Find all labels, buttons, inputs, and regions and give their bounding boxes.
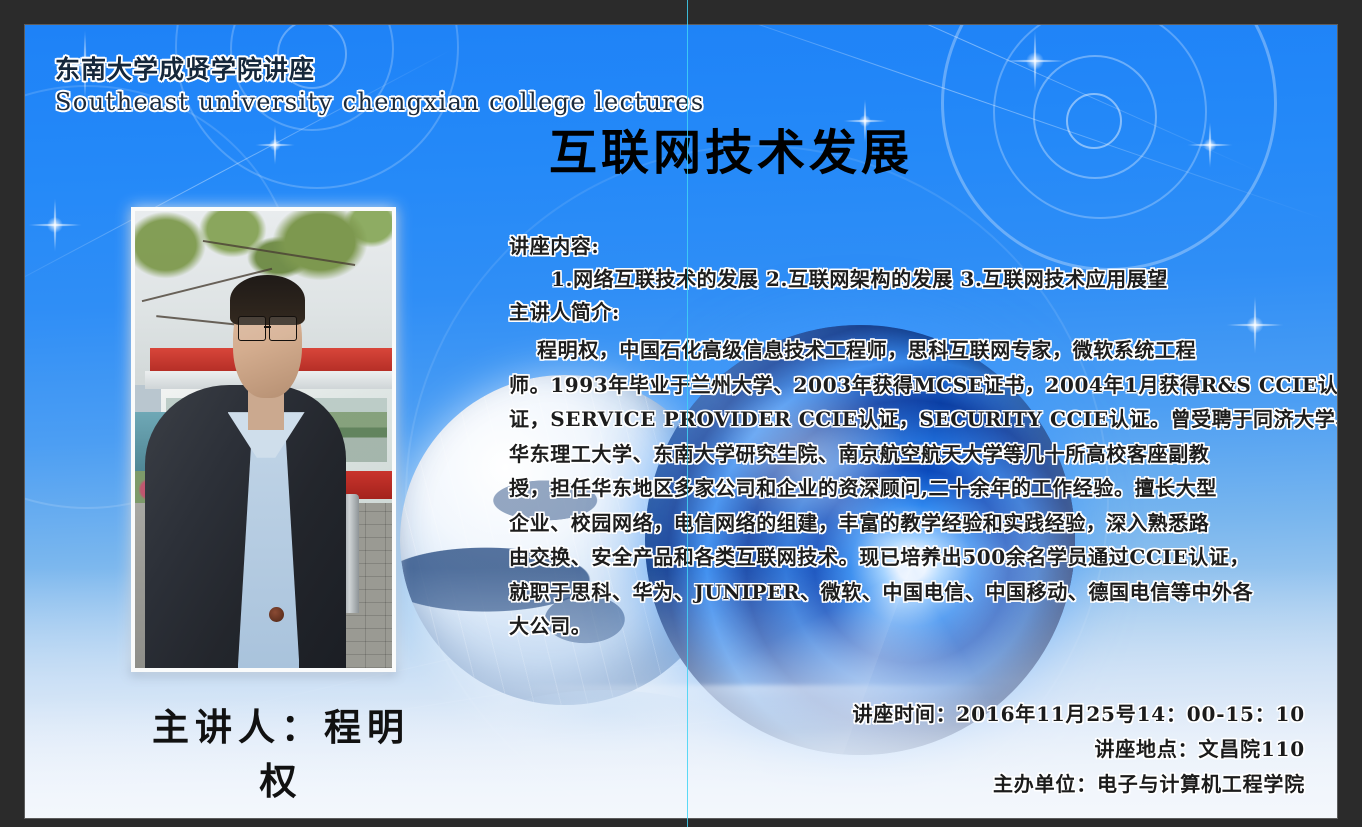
speaker-photo <box>131 207 396 672</box>
content-bio-label: 主讲人简介: <box>509 296 1329 329</box>
lecture-time: 讲座时间：2016年11月25号14：00-15：10 <box>852 697 1305 732</box>
glasses-icon <box>238 316 297 339</box>
header-title-en: Southeast university chengxian college l… <box>55 88 705 116</box>
speaker-photo-frame <box>131 207 396 672</box>
poster-content: 讲座内容: 1.网络互联技术的发展 2.互联网架构的发展 3.互联网技术应用展望… <box>509 230 1329 644</box>
bio-line: 就职于思科、华为、JUNIPER、微软、中国电信、中国移动、德国电信等中外各 <box>509 575 1329 610</box>
vertical-guide-line <box>687 0 688 827</box>
lecture-organizer: 主办单位：电子与计算机工程学院 <box>852 767 1305 802</box>
lecture-poster: 东南大学成贤学院讲座 Southeast university chengxia… <box>25 25 1337 818</box>
speaker-caption: 主讲人：程明权 <box>131 697 431 805</box>
header-title-cn: 东南大学成贤学院讲座 <box>55 50 705 86</box>
globe-reflection <box>455 690 755 810</box>
bio-line: 程明权，中国石化高级信息技术工程师，思科互联网专家，微软系统工程 <box>509 333 1329 368</box>
bio-line: 大公司。 <box>509 609 1329 644</box>
screenshot-root: 东南大学成贤学院讲座 Southeast university chengxia… <box>0 0 1362 827</box>
bio-line: 由交换、安全产品和各类互联网技术。现已培养出500余名学员通过CCIE认证， <box>509 540 1329 575</box>
poster-footer: 讲座时间：2016年11月25号14：00-15：10 讲座地点：文昌院110 … <box>852 697 1305 802</box>
bio-line: 华东理工大学、东南大学研究生院、南京航空航天大学等几十所高校客座副教 <box>509 437 1329 472</box>
speaker-bio: 程明权，中国石化高级信息技术工程师，思科互联网专家，微软系统工程 师。1993年… <box>509 333 1329 644</box>
content-section-label: 讲座内容: <box>509 230 1329 263</box>
content-topics: 1.网络互联技术的发展 2.互联网架构的发展 3.互联网技术应用展望 <box>509 263 1329 296</box>
bio-line: 证，SERVICE PROVIDER CCIE认证，SECURITY CCIE认… <box>509 402 1329 437</box>
poster-header: 东南大学成贤学院讲座 Southeast university chengxia… <box>55 50 705 116</box>
lecture-place: 讲座地点：文昌院110 <box>852 732 1305 767</box>
bio-line: 企业、校园网络，电信网络的组建，丰富的教学经验和实践经验，深入熟悉路 <box>509 506 1329 541</box>
page-title: 互联网技术发展 <box>25 113 1337 183</box>
bio-line: 授，担任华东地区多家公司和企业的资深顾问,二十余年的工作经验。擅长大型 <box>509 471 1329 506</box>
bio-line: 师。1993年毕业于兰州大学、2003年获得MCSE证书，2004年1月获得R&… <box>509 368 1329 403</box>
